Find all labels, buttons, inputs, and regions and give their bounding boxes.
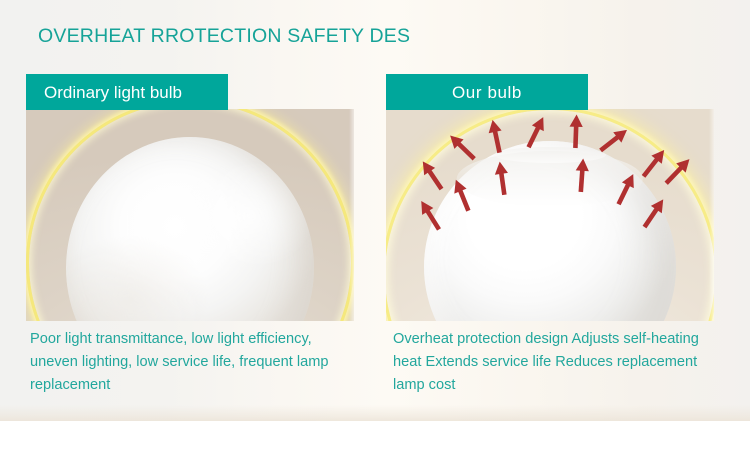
heat-arrow-inner-4: [574, 158, 590, 192]
bulb-dome-ours: [424, 141, 676, 321]
heat-arrow-inner-6: [639, 196, 669, 231]
heat-arrow-outer-1: [417, 158, 447, 193]
heat-arrow-inner-1: [416, 198, 445, 233]
heat-arrow-inner-3: [493, 161, 511, 196]
banner-label-ours: Our bulb: [452, 84, 522, 101]
image-ordinary-bulb: [26, 109, 354, 321]
glow-arc-icon: [386, 109, 714, 321]
panel-ordinary-bulb: Ordinary light bulb: [26, 74, 354, 321]
bulb-dome-ordinary: [66, 137, 314, 321]
heat-arrow-inner-5: [613, 171, 640, 207]
page-title: OVERHEAT RROTECTION SAFETY DES: [38, 25, 410, 48]
heat-arrow-outer-5: [569, 114, 583, 148]
heat-arrow-inner-2: [450, 177, 475, 213]
banner-our-bulb: Our bulb: [386, 74, 588, 110]
heat-arrow-outer-6: [597, 125, 632, 156]
product-feature-banner: OVERHEAT RROTECTION SAFETY DES Ordinary …: [0, 0, 750, 449]
caption-our-bulb: Overheat protection design Adjusts self-…: [393, 328, 711, 397]
banner-label-ordinary: Ordinary light bulb: [44, 84, 182, 101]
banner-ordinary-bulb: Ordinary light bulb: [26, 74, 228, 110]
heat-arrow-outer-7: [638, 146, 669, 181]
caption-ordinary-bulb: Poor light transmittance, low light effi…: [30, 328, 348, 397]
image-our-bulb: [386, 109, 714, 321]
heat-arrow-inner-7: [661, 155, 694, 188]
bulb-neck-highlight: [494, 147, 606, 163]
heat-arrow-outer-4: [523, 114, 550, 150]
panel-our-bulb: Our bulb: [386, 74, 714, 321]
heat-arrows-group: [386, 109, 714, 321]
heat-arrow-outer-3: [486, 118, 506, 154]
heat-arrow-outer-2: [446, 131, 479, 164]
glow-arc-icon: [26, 109, 354, 321]
